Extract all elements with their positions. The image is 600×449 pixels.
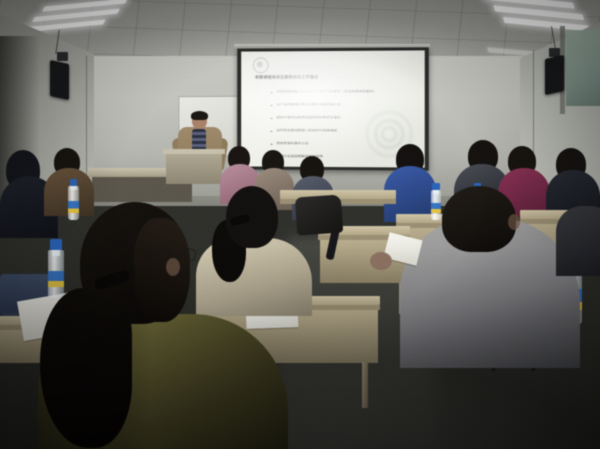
lectern-body	[166, 152, 222, 184]
slide-bullet: 团队中各岗位职责的具体划分和责任落实	[271, 116, 423, 120]
bottle-cap	[432, 183, 439, 190]
presenter-hair	[191, 111, 208, 120]
desk-leg	[362, 362, 368, 408]
ear	[166, 258, 180, 276]
slide-bullet: 项目前期准备工作的重点与各环节的要点（包含前期调查要点）	[271, 90, 423, 94]
bottle-cap	[70, 179, 78, 186]
lectern-top	[163, 149, 225, 154]
slide-bullet: 绩效考核的基本方法	[271, 142, 423, 146]
classroom-photo: 本期课程培训主要知识与工作重点 项目前期准备工作的重点与各环节的要点（包含前期调…	[0, 0, 600, 449]
slide-logo-icon	[253, 57, 269, 73]
man-dark-top-back	[556, 206, 600, 276]
hand	[370, 252, 392, 270]
bottle-neck	[433, 189, 439, 193]
bottle-label	[431, 203, 441, 213]
bottled-water	[431, 190, 441, 220]
ear	[508, 214, 520, 230]
slide-bullet: 生产现场管理的常见问题与流程改善方法	[271, 103, 423, 107]
head	[442, 186, 516, 252]
hair-front	[134, 218, 190, 322]
speaker-icon-left	[50, 60, 69, 100]
foreground-woman-olive-coat	[38, 196, 288, 449]
glass-partition	[566, 30, 600, 106]
speaker-icon-right	[545, 55, 564, 95]
bottle-neck	[70, 185, 76, 190]
slide-title: 本期课程培训主要知识与工作重点	[255, 75, 405, 80]
slide-bullet: 如何有效推动跨部门的协同与资源调配	[271, 129, 423, 133]
camera-icon-left	[57, 52, 68, 61]
